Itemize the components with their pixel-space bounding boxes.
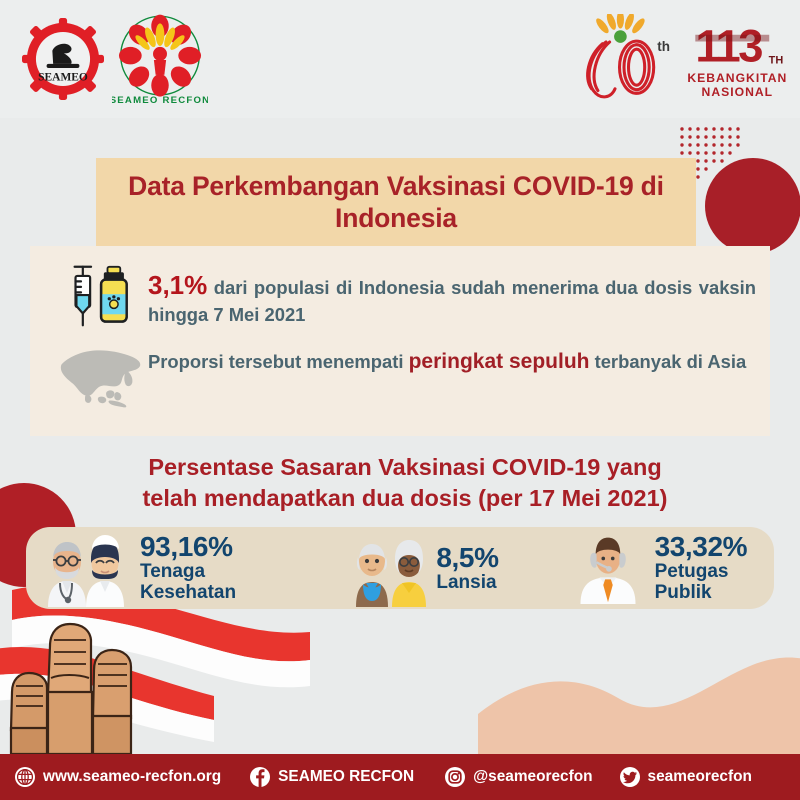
instagram-icon bbox=[444, 766, 466, 788]
globe-icon bbox=[14, 766, 36, 788]
footer-facebook-label: SEAMEO RECFON bbox=[278, 768, 414, 786]
section-heading-line1: Persentase Sasaran Vaksinasi COVID-19 ya… bbox=[110, 452, 700, 483]
asia-rank-text-before: Proporsi tersebut menempati bbox=[148, 351, 409, 372]
stat-health-workers-text: 93,16% Tenaga Kesehatan bbox=[134, 532, 286, 604]
twitter-icon bbox=[619, 766, 641, 788]
stat-elderly-value: 8,5% bbox=[436, 543, 498, 572]
section-heading-target-percentage: Persentase Sasaran Vaksinasi COVID-19 ya… bbox=[110, 452, 700, 513]
vaccine-syringe-icon bbox=[56, 258, 148, 334]
asia-rank-highlight: peringkat sepuluh bbox=[409, 350, 590, 373]
stat-health-workers-label: Tenaga Kesehatan bbox=[140, 562, 286, 604]
svg-text:th: th bbox=[657, 39, 670, 54]
stat-public-officer-text: 33,32% Petugas Publik bbox=[649, 532, 774, 604]
footer-facebook[interactable]: SEAMEO RECFON bbox=[249, 766, 414, 788]
info-card: 3,1% dari populasi di Indonesia sudah me… bbox=[30, 246, 770, 436]
title-banner: Data Perkembangan Vaksinasi COVID-19 di … bbox=[96, 158, 696, 246]
stat-public-officer-label: Petugas Publik bbox=[655, 562, 774, 604]
svg-text:TH: TH bbox=[769, 54, 784, 66]
stats-band: 93,16% Tenaga Kesehatan bbox=[26, 527, 774, 609]
svg-text:113: 113 bbox=[695, 21, 762, 72]
stat-health-workers: 93,16% Tenaga Kesehatan bbox=[42, 527, 286, 609]
svg-text:SEAMEO: SEAMEO bbox=[38, 71, 88, 83]
10th-anniversary-logo: th bbox=[570, 14, 678, 106]
asia-map-icon bbox=[56, 338, 148, 414]
health-workers-icon bbox=[42, 529, 134, 607]
svg-text:NASIONAL: NASIONAL bbox=[702, 85, 774, 99]
seameo-logo: SEAMEO bbox=[22, 18, 104, 100]
footer-instagram-label: @seameorecfon bbox=[473, 768, 592, 786]
footer-website-label: www.seameo-recfon.org bbox=[43, 768, 221, 786]
stat-health-workers-value: 93,16% bbox=[140, 532, 286, 561]
stat-elderly-label: Lansia bbox=[436, 573, 498, 594]
footer-website[interactable]: www.seameo-recfon.org bbox=[14, 766, 221, 788]
asia-rank-text-after: terbanyak di Asia bbox=[589, 351, 746, 372]
svg-text:SEAMEO RECFON: SEAMEO RECFON bbox=[112, 95, 208, 106]
footer-twitter-label: seameorecfon bbox=[648, 768, 752, 786]
seameo-recfon-logo: SEAMEO RECFON bbox=[112, 12, 208, 108]
red-circle-decoration-topright bbox=[705, 158, 800, 254]
stat-public-officer: 33,32% Petugas Publik bbox=[571, 527, 774, 609]
public-officer-icon bbox=[571, 529, 649, 607]
info-text-asia-rank: Proporsi tersebut menempati peringkat se… bbox=[148, 338, 756, 376]
stat-public-officer-value: 33,32% bbox=[655, 532, 774, 561]
vaccination-rate-text: dari populasi di Indonesia sudah menerim… bbox=[148, 277, 756, 325]
footer-bar: www.seameo-recfon.org SEAMEO RECFON @sea… bbox=[0, 754, 800, 800]
footer-twitter[interactable]: seameorecfon bbox=[619, 766, 752, 788]
facebook-icon bbox=[249, 766, 271, 788]
info-row-asia-rank: Proporsi tersebut menempati peringkat se… bbox=[56, 338, 756, 414]
stat-elderly: 8,5% Lansia bbox=[352, 527, 498, 609]
footer-instagram[interactable]: @seameorecfon bbox=[444, 766, 592, 788]
infographic-poster: SEAMEO SEAME bbox=[0, 0, 800, 800]
page-title: Data Perkembangan Vaksinasi COVID-19 di … bbox=[120, 170, 672, 235]
info-row-vaccination-rate: 3,1% dari populasi di Indonesia sudah me… bbox=[56, 258, 756, 334]
kebangkitan-nasional-logo: 113 TH KEBANGKITAN NASIONAL bbox=[688, 18, 790, 102]
svg-text:KEBANGKITAN: KEBANGKITAN bbox=[688, 71, 787, 85]
peach-wave-decoration bbox=[478, 636, 800, 756]
vaccination-percentage: 3,1% bbox=[148, 270, 207, 300]
section-heading-line2: telah mendapatkan dua dosis (per 17 Mei … bbox=[110, 483, 700, 514]
elderly-couple-icon bbox=[352, 529, 430, 607]
header-logo-band: SEAMEO SEAME bbox=[0, 0, 800, 118]
stat-elderly-text: 8,5% Lansia bbox=[430, 543, 498, 594]
info-text-vaccination-rate: 3,1% dari populasi di Indonesia sudah me… bbox=[148, 258, 756, 327]
